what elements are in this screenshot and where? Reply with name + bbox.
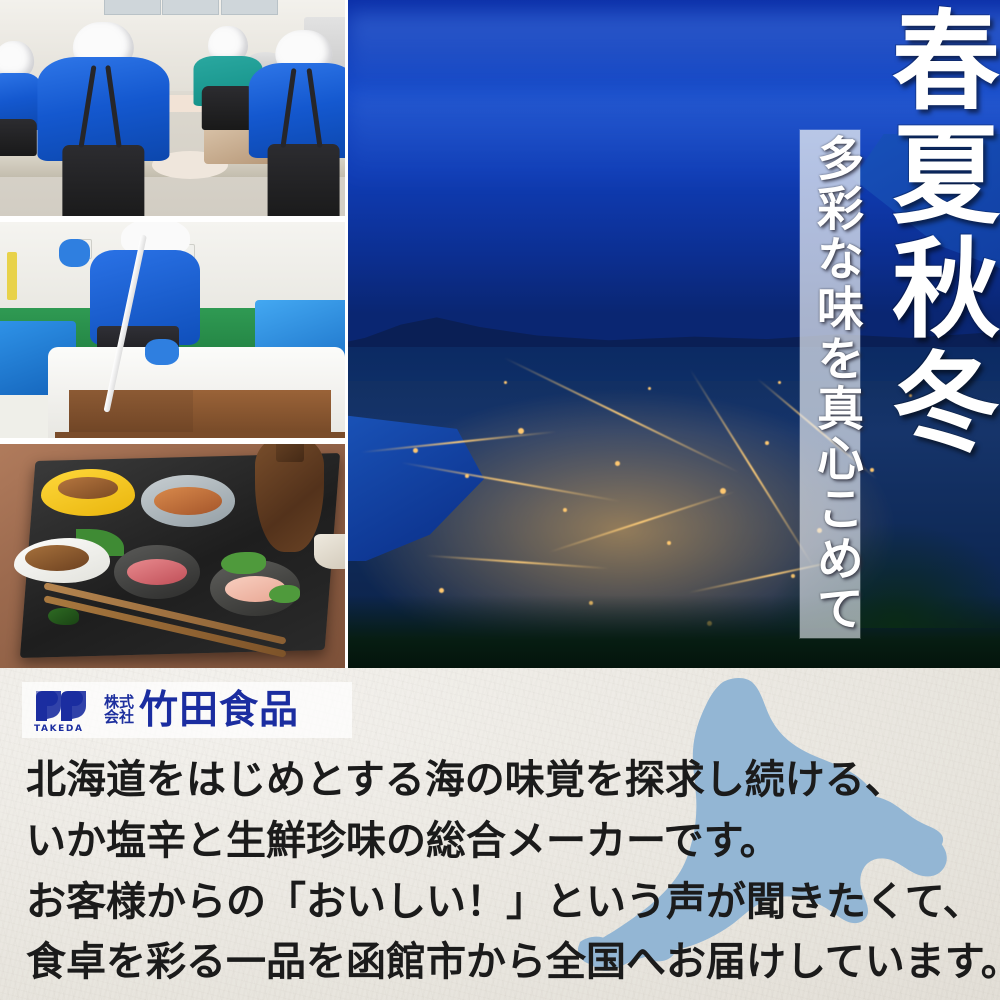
photo-mixing-vat xyxy=(0,222,345,438)
takeda-logo-mark: TAKEDA xyxy=(30,687,100,733)
logo-company-name: 竹田食品 xyxy=(139,691,299,730)
hero-subtitle: 多彩な味を真心こめて xyxy=(800,130,860,638)
photo-factory-workers xyxy=(0,0,345,216)
logo-prefix: 株式 会社 xyxy=(100,695,134,726)
company-description: 北海道をはじめとする海の味覚を探求し続ける、 いか塩辛と生鮮珍味の総合メーカーで… xyxy=(26,750,978,993)
promo-banner: 多彩な味を真心こめて 春夏秋冬 xyxy=(0,0,1000,1000)
company-logo: TAKEDA 株式 会社 竹田食品 xyxy=(22,682,352,738)
subtitle-backdrop: 多彩な味を真心こめて xyxy=(800,130,860,638)
photo-food-platter xyxy=(0,444,345,668)
photo-column xyxy=(0,0,345,668)
hero-section: 多彩な味を真心こめて 春夏秋冬 xyxy=(0,0,1000,668)
takeda-romaji: TAKEDA xyxy=(34,724,84,733)
company-info-section: TAKEDA 株式 会社 竹田食品 北海道をはじめとする海の味覚を探求し続ける、… xyxy=(0,668,1000,1000)
description-line-1: 北海道をはじめとする海の味覚を探求し続ける、 xyxy=(26,750,978,811)
description-line-4: 食卓を彩る一品を函館市から全国へお届けしています。 xyxy=(26,932,978,993)
logo-prefix-line2: 会社 xyxy=(104,710,134,725)
description-line-3: お客様からの「おいしい！」という声が聞きたくて、 xyxy=(26,872,978,933)
hero-title: 春夏秋冬 xyxy=(882,4,992,460)
description-line-2: いか塩辛と生鮮珍味の総合メーカーです。 xyxy=(26,811,978,872)
